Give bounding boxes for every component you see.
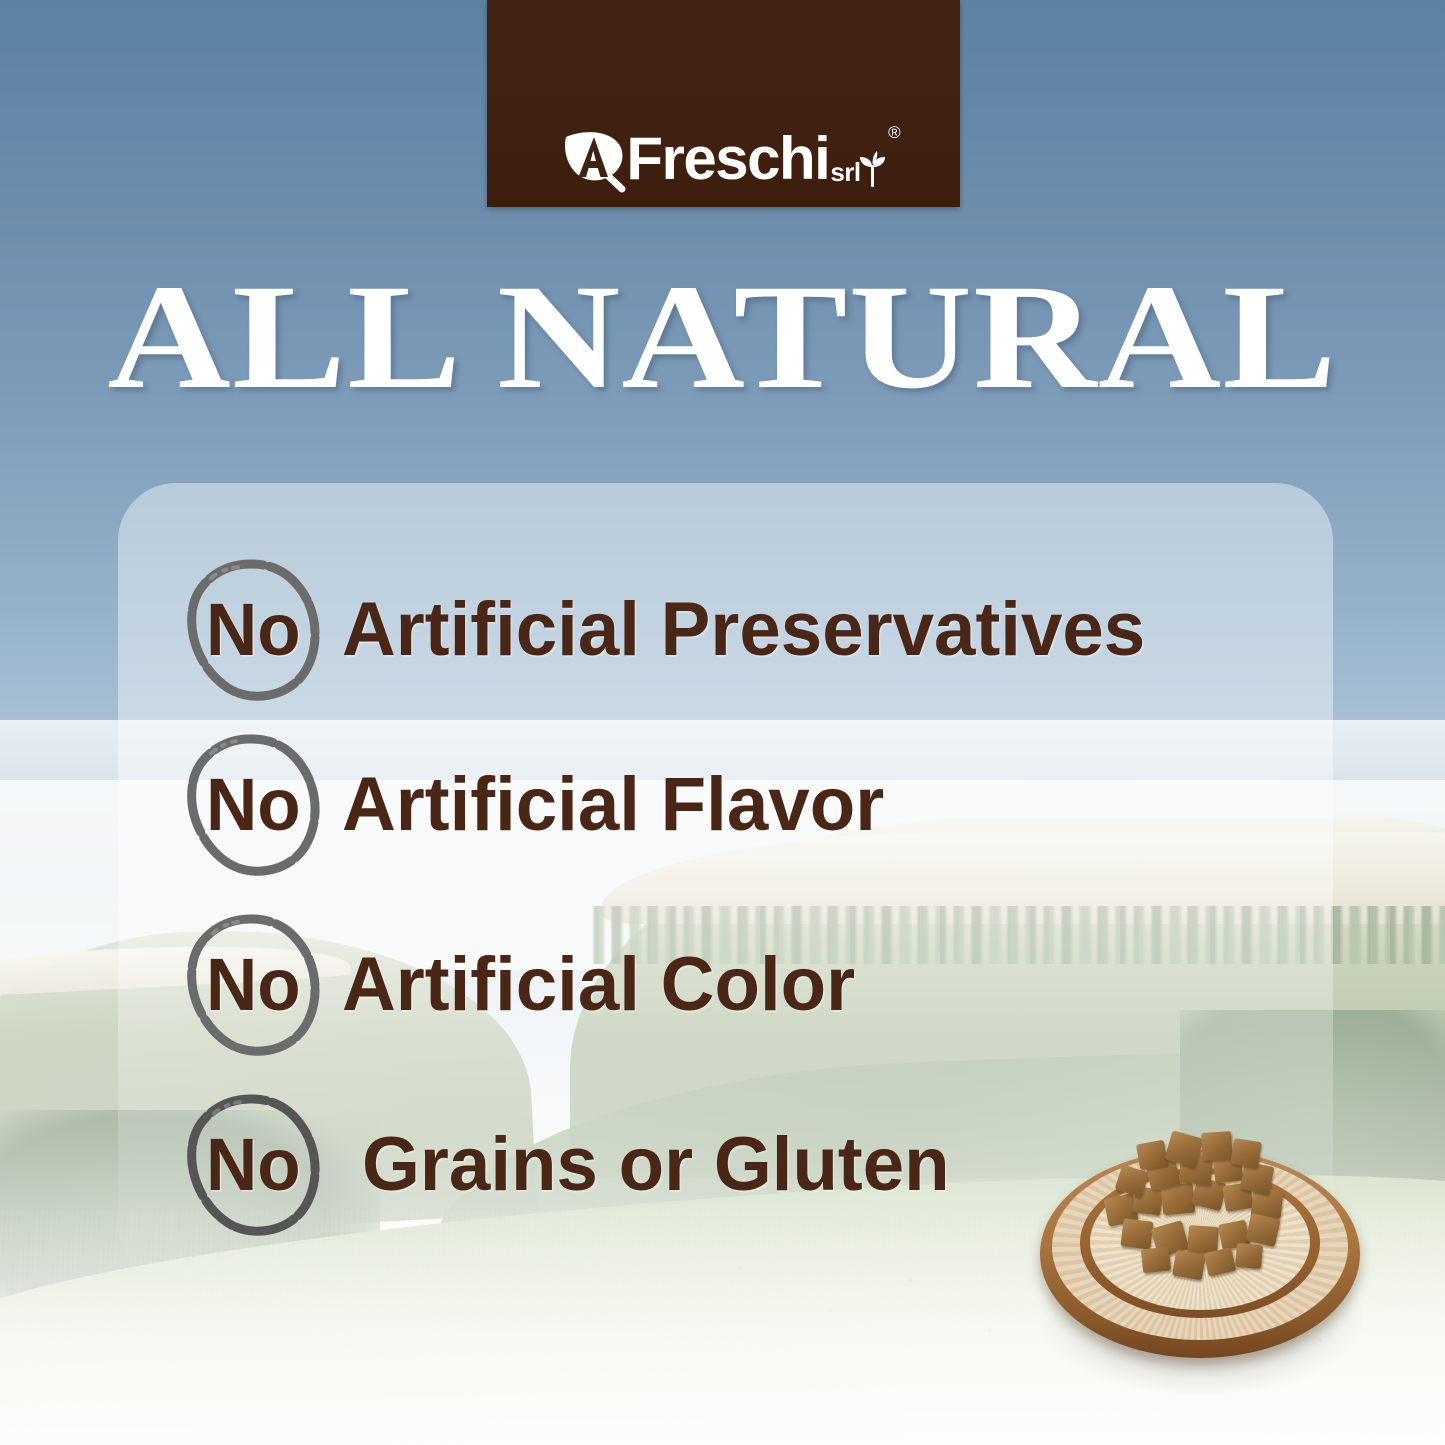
- treat-piece: [1136, 1140, 1168, 1170]
- no-label: No: [206, 593, 301, 667]
- treat-piece: [1172, 1250, 1206, 1281]
- product-photo: [1010, 1120, 1390, 1410]
- claim-label: Artificial Color: [342, 945, 855, 1025]
- list-item: No Artificial Color: [186, 925, 866, 1045]
- no-label: No: [206, 948, 301, 1022]
- no-badge: No: [178, 910, 328, 1060]
- treat-piece: [1201, 1131, 1233, 1161]
- treat-piece: [1235, 1243, 1263, 1269]
- treat-pile: [1086, 1128, 1318, 1300]
- no-label: No: [206, 1128, 301, 1202]
- treat-piece: [1245, 1213, 1281, 1247]
- claim-label: Grains or Gluten: [362, 1125, 950, 1205]
- list-item: No Artificial Flavor: [186, 745, 895, 865]
- treat-piece: [1141, 1247, 1171, 1274]
- claim-label: Artificial Preservatives: [342, 590, 1145, 670]
- treat-piece: [1120, 1218, 1153, 1249]
- treat-piece: [1204, 1247, 1237, 1277]
- no-label: No: [206, 768, 301, 842]
- claim-label: Artificial Flavor: [342, 765, 884, 845]
- list-item: No Grains or Gluten: [186, 1105, 962, 1225]
- no-badge: No: [178, 555, 328, 705]
- no-badge: No: [178, 730, 328, 880]
- ad-banner: Freschi srl ® ALL NATURAL No Artif: [0, 0, 1445, 1445]
- treat-piece: [1230, 1138, 1262, 1168]
- no-badge: No: [178, 1090, 328, 1240]
- list-item: No Artificial Preservatives: [186, 570, 1162, 690]
